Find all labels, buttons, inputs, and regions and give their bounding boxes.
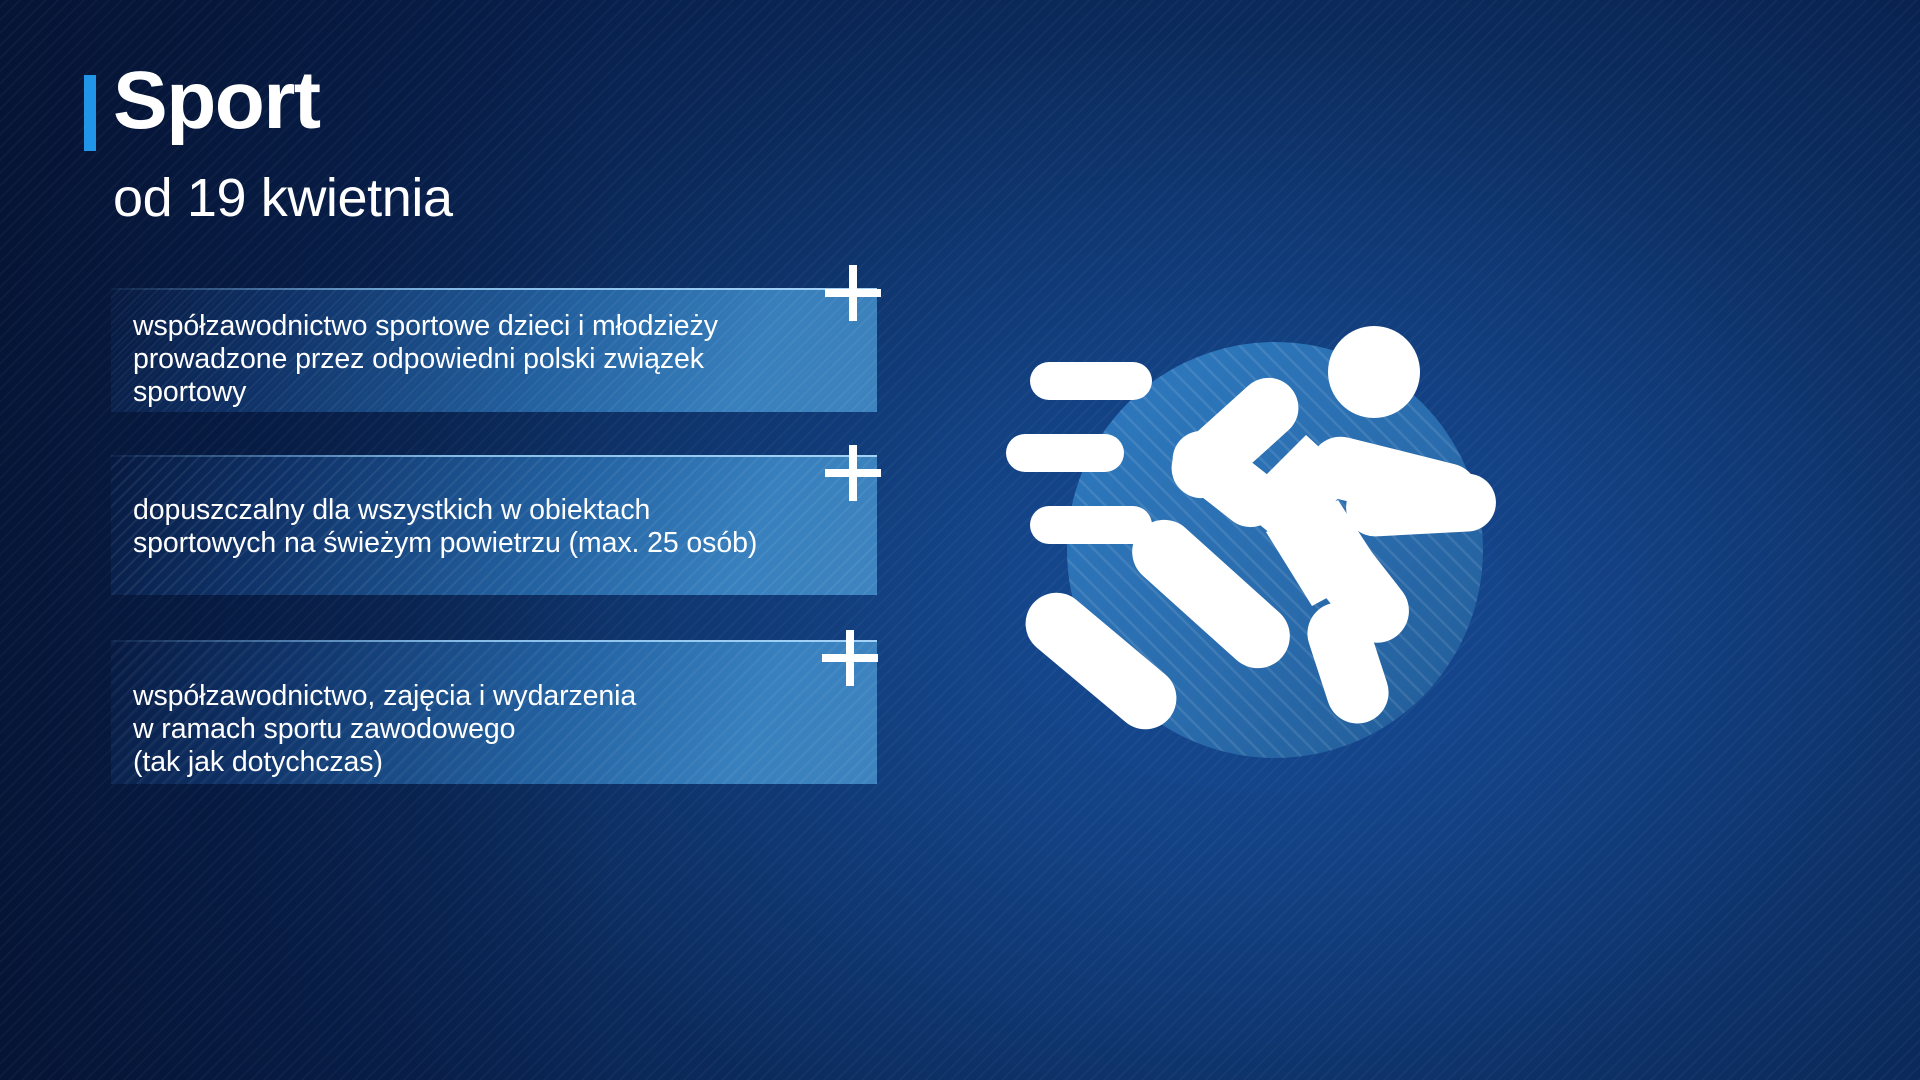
- panel-1-text: współzawodnictwo sportowe dzieci i młodz…: [111, 288, 877, 409]
- title-accent-bar: [84, 75, 96, 151]
- panel-3-line-1: współzawodnictwo, zajęcia i wydarzenia: [133, 680, 877, 713]
- plus-vertical-bar: [846, 630, 854, 686]
- panel-3-text: współzawodnictwo, zajęcia i wydarzenia w…: [111, 640, 877, 779]
- slide-root: Sport od 19 kwietnia współzawodnictwo sp…: [0, 0, 1920, 1080]
- plus-icon: [825, 265, 881, 321]
- panel-2-text: dopuszczalny dla wszystkich w obiektach …: [111, 455, 877, 560]
- plus-vertical-bar: [849, 445, 857, 501]
- header: Sport od 19 kwietnia: [84, 60, 453, 229]
- page-title: Sport: [113, 60, 320, 142]
- info-panel-3: współzawodnictwo, zajęcia i wydarzenia w…: [111, 640, 877, 784]
- panel-1-line-3: sportowy: [133, 376, 877, 409]
- panel-2-line-2: sportowych na świeżym powietrzu (max. 25…: [133, 527, 877, 560]
- panel-1-line-1: współzawodnictwo sportowe dzieci i młodz…: [133, 310, 877, 343]
- running-figure-icon: [990, 300, 1510, 770]
- page-subtitle: od 19 kwietnia: [113, 167, 453, 229]
- info-panel-2: dopuszczalny dla wszystkich w obiektach …: [111, 455, 877, 595]
- plus-icon: [825, 445, 881, 501]
- panel-3-line-3: (tak jak dotychczas): [133, 746, 877, 779]
- plus-vertical-bar: [849, 265, 857, 321]
- panel-3-line-2: w ramach sportu zawodowego: [133, 713, 877, 746]
- panel-2-line-1: dopuszczalny dla wszystkich w obiektach: [133, 494, 877, 527]
- info-panel-1: współzawodnictwo sportowe dzieci i młodz…: [111, 288, 877, 412]
- title-row: Sport: [84, 60, 453, 151]
- panel-1-line-2: prowadzone przez odpowiedni polski związ…: [133, 343, 877, 376]
- plus-icon: [822, 630, 878, 686]
